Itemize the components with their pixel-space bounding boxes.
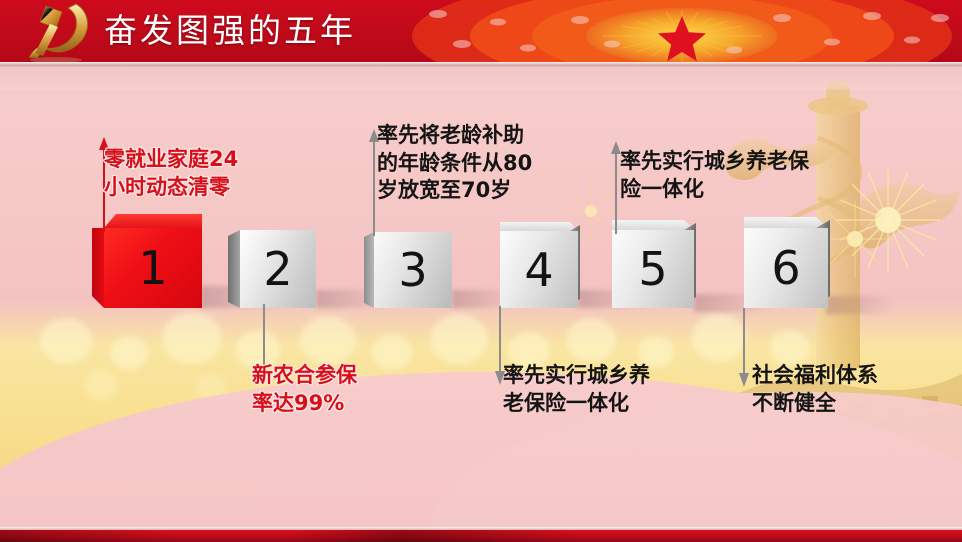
header-gloss [0,68,962,90]
step-label-4: 率先实行城乡养 老保险一体化 [503,362,703,417]
step-cube-4[interactable]: 4 [500,231,578,308]
step-number-2: 2 [263,246,292,292]
step-cube-3[interactable]: 3 [374,232,452,308]
party-emblem-icon [16,0,102,62]
step-cube-1[interactable]: 1 [104,228,202,308]
step-number-3: 3 [398,247,427,293]
step-number-1: 1 [138,245,167,291]
footer-sheen [0,530,962,542]
slide-title: 奋发图强的五年 [104,4,356,52]
slide-canvas: 奋发图强的五年 1 2 3 4 [0,0,962,542]
step-label-3: 率先将老龄补助 的年龄条件从80 岁放宽至70岁 [377,122,597,205]
step-label-2: 新农合参保 率达99% [252,362,432,417]
step-cube-5[interactable]: 5 [612,230,694,308]
step-cube-6[interactable]: 6 [744,228,828,308]
slide-footer [0,530,962,542]
step-label-1: 零就业家庭24 小时动态清零 [104,146,304,201]
step-label-6: 社会福利体系 不断健全 [752,362,942,417]
header-decoration [402,0,962,62]
step-cube-2[interactable]: 2 [240,230,316,308]
step-number-5: 5 [638,246,667,292]
step-number-4: 4 [524,247,553,293]
step-number-6: 6 [771,245,800,291]
step-label-5: 率先实行城乡养老保 险一体化 [620,148,850,203]
step-arrow-6-down-icon [736,308,752,388]
slide-header: 奋发图强的五年 [0,0,962,62]
cube-shadow [826,296,896,314]
